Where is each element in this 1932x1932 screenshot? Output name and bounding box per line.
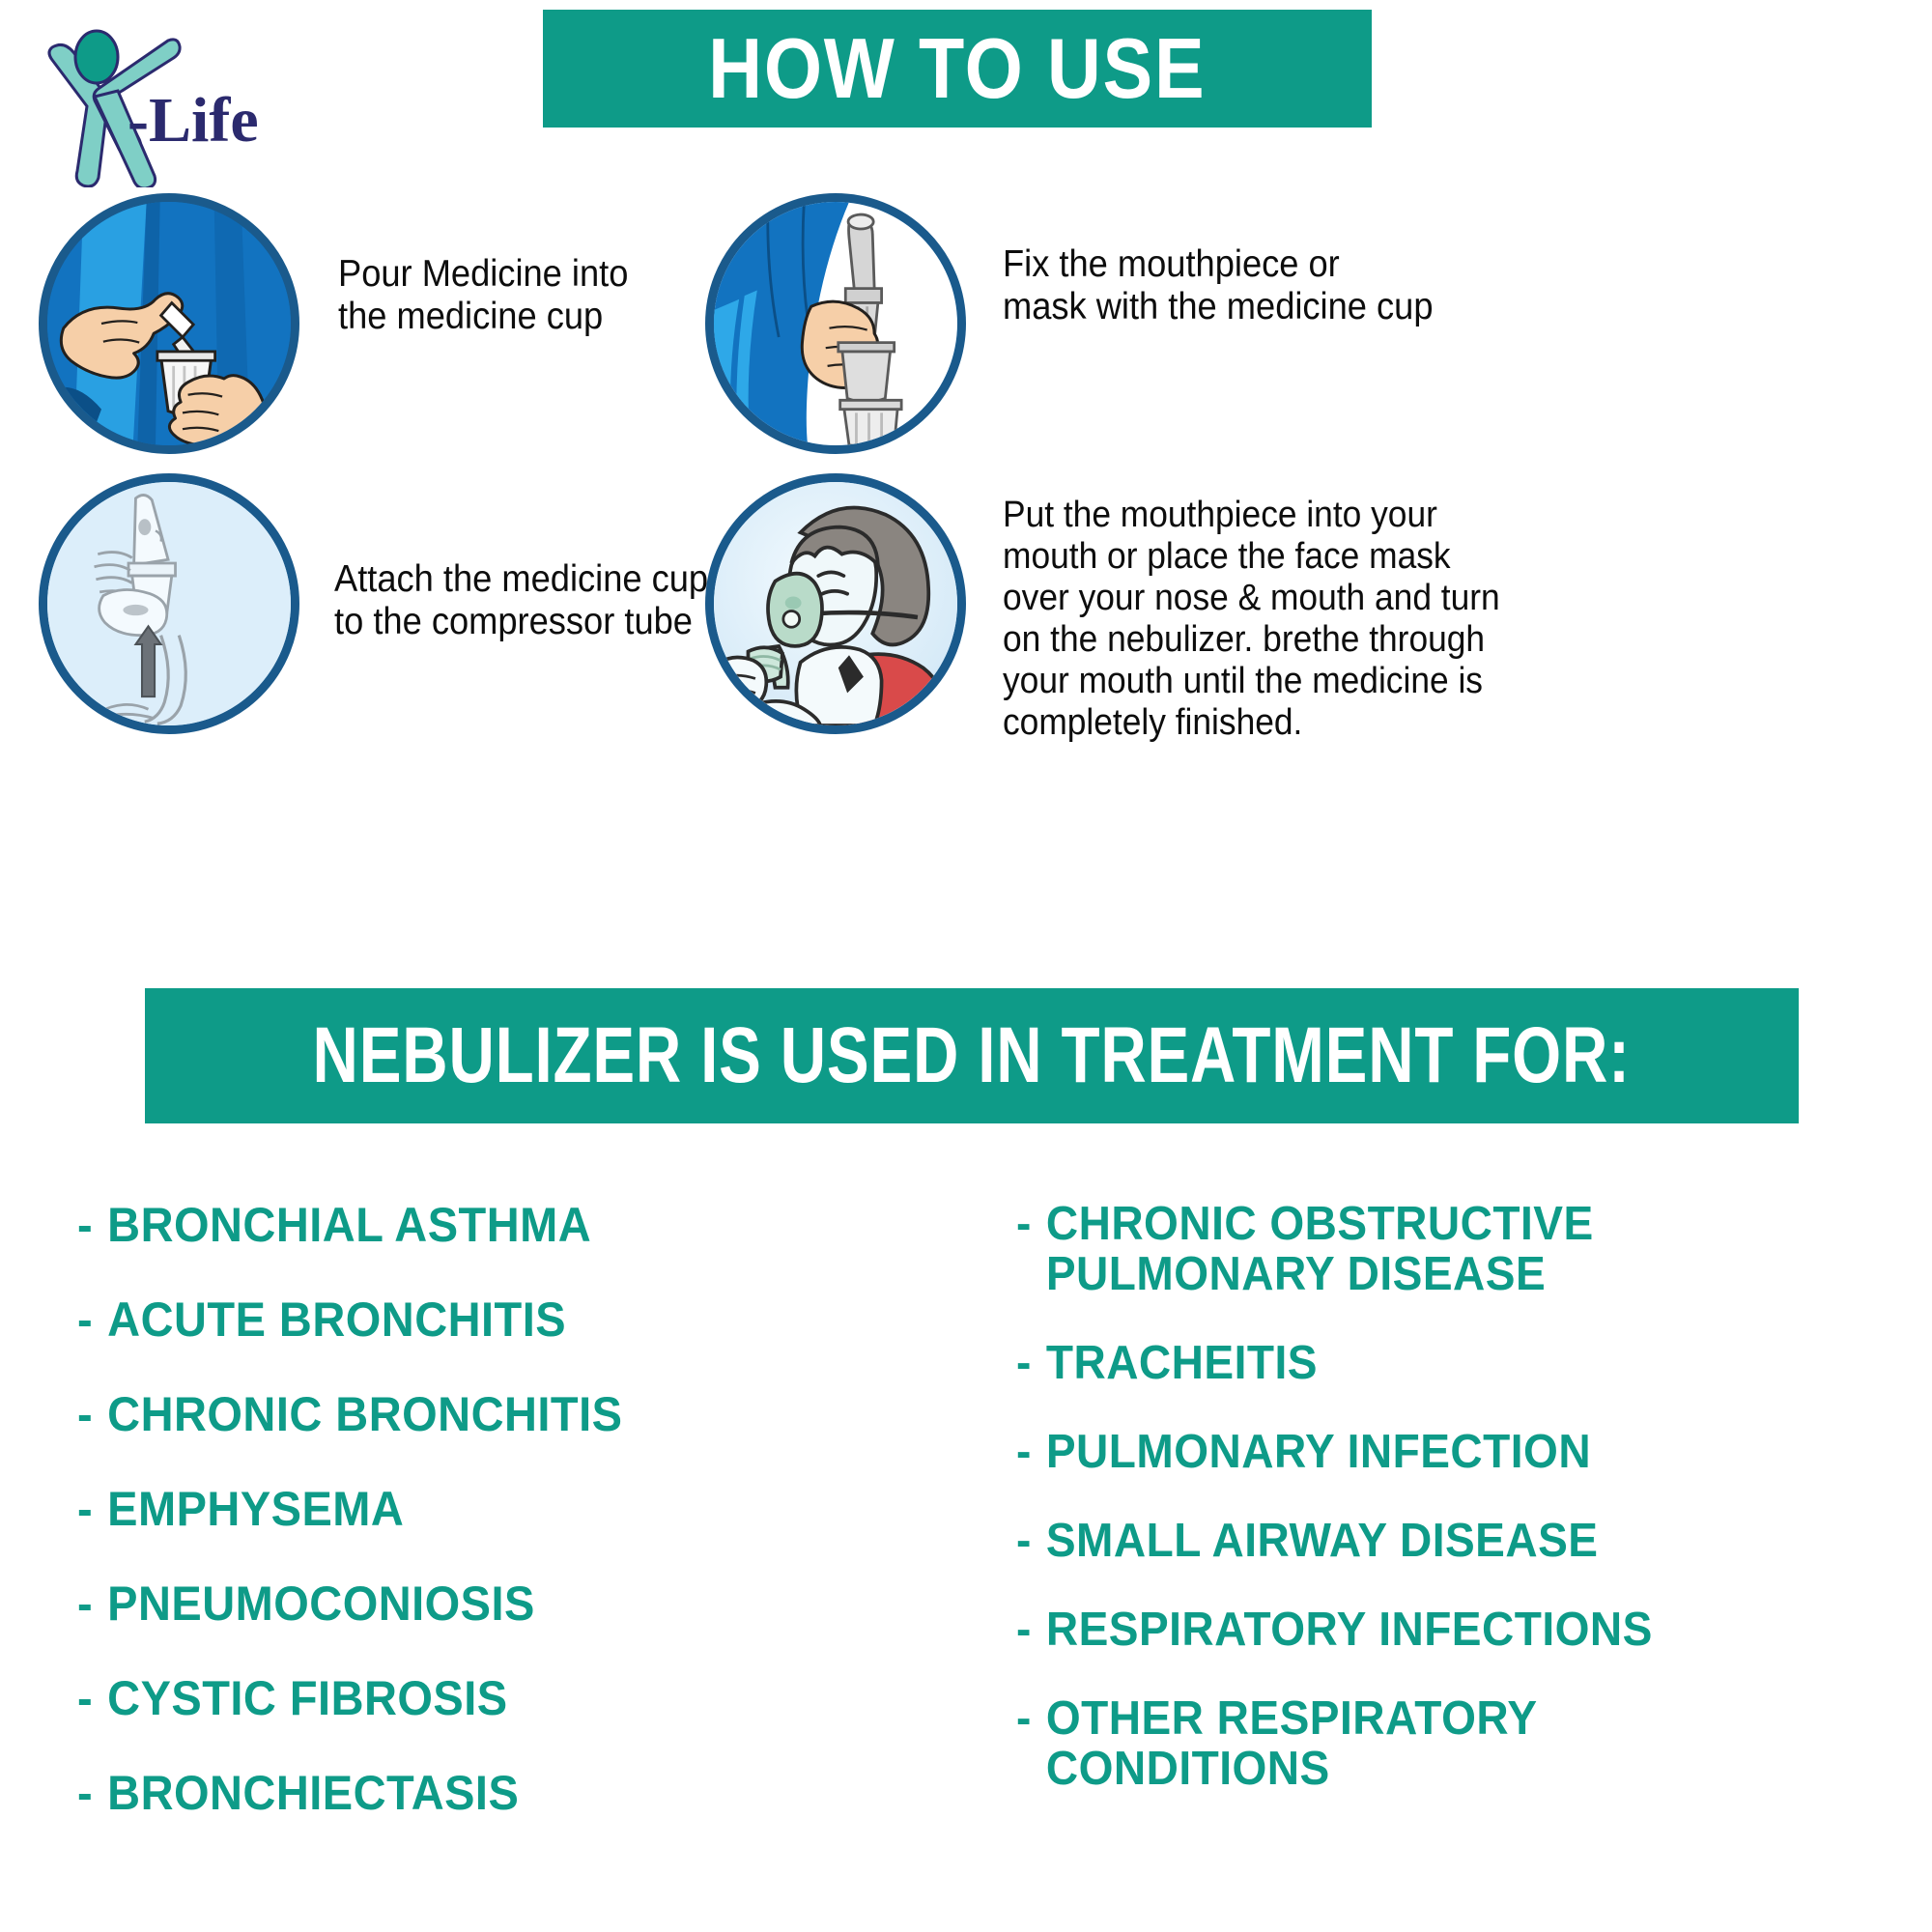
condition-label: TRACHEITIS [1046, 1339, 1318, 1389]
condition-label: BRONCHIAL ASTHMA [107, 1200, 591, 1251]
condition-item: - TRACHEITIS [1016, 1339, 1870, 1389]
condition-label: OTHER RESPIRATORY CONDITIONS [1046, 1694, 1538, 1795]
how-to-use-steps: Pour Medicine into the medicine cup [0, 184, 1932, 918]
bullet-dash-icon: - [1016, 1339, 1032, 1389]
conditions-right-column: - CHRONIC OBSTRUCTIVE PULMONARY DISEASE … [1016, 1200, 1924, 1833]
condition-label: PULMONARY INFECTION [1046, 1428, 1591, 1478]
condition-label: RESPIRATORY INFECTIONS [1046, 1605, 1653, 1656]
header-banner: HOW TO USE [543, 10, 1372, 128]
bullet-dash-icon: - [1016, 1605, 1032, 1656]
bullet-dash-icon: - [77, 1578, 93, 1630]
step-4: Put the mouthpiece into your mouth or pl… [705, 473, 1537, 744]
condition-label: SMALL AIRWAY DISEASE [1046, 1517, 1599, 1567]
logo-wordmark: -Life [128, 85, 259, 156]
step-3-caption: Attach the medicine cup to the compresso… [334, 558, 708, 642]
condition-label: CYSTIC FIBROSIS [107, 1673, 507, 1724]
step-1-caption: Pour Medicine into the medicine cup [338, 253, 628, 337]
step-2-caption: Fix the mouthpiece or mask with the medi… [1003, 243, 1434, 327]
condition-item: - CHRONIC BRONCHITIS [77, 1389, 767, 1440]
condition-item: - EMPHYSEMA [77, 1484, 767, 1535]
page-title: HOW TO USE [708, 26, 1206, 111]
treatment-banner-title: NEBULIZER IS USED IN TREATMENT FOR: [313, 1016, 1631, 1095]
condition-item: - SMALL AIRWAY DISEASE [1016, 1517, 1870, 1567]
k-life-logo: -Life ® [23, 14, 265, 187]
step-1-illustration [39, 193, 299, 454]
bullet-dash-icon: - [1016, 1200, 1032, 1300]
bullet-dash-icon: - [77, 1389, 93, 1440]
condition-label: CHRONIC BRONCHITIS [107, 1389, 622, 1440]
condition-item: - RESPIRATORY INFECTIONS [1016, 1605, 1870, 1656]
condition-item: - BRONCHIAL ASTHMA [77, 1200, 767, 1251]
treatment-banner: NEBULIZER IS USED IN TREATMENT FOR: [145, 988, 1799, 1123]
step-4-illustration [705, 473, 966, 734]
step-3-illustration [39, 473, 299, 734]
condition-item: - PNEUMOCONIOSIS [77, 1578, 767, 1630]
condition-label: CHRONIC OBSTRUCTIVE PULMONARY DISEASE [1046, 1200, 1594, 1300]
bullet-dash-icon: - [1016, 1428, 1032, 1478]
infographic-page: -Life ® -Life HOW TO USE [0, 0, 1932, 1932]
condition-item: - CHRONIC OBSTRUCTIVE PULMONARY DISEASE [1016, 1200, 1870, 1300]
bullet-dash-icon: - [1016, 1694, 1032, 1795]
condition-label: PNEUMOCONIOSIS [107, 1578, 535, 1630]
step-3: Attach the medicine cup to the compresso… [39, 473, 736, 734]
bullet-dash-icon: - [77, 1484, 93, 1535]
condition-label: BRONCHIECTASIS [107, 1768, 519, 1819]
bullet-dash-icon: - [77, 1673, 93, 1724]
bullet-dash-icon: - [77, 1768, 93, 1819]
step-1: Pour Medicine into the medicine cup [39, 193, 650, 454]
condition-label: EMPHYSEMA [107, 1484, 404, 1535]
condition-item: - PULMONARY INFECTION [1016, 1428, 1870, 1478]
step-4-caption: Put the mouthpiece into your mouth or pl… [1003, 495, 1500, 744]
condition-item: - BRONCHIECTASIS [77, 1768, 767, 1819]
step-2: Fix the mouthpiece or mask with the medi… [705, 193, 1465, 454]
bullet-dash-icon: - [77, 1294, 93, 1346]
conditions-left-column: - BRONCHIAL ASTHMA - ACUTE BRONCHITIS - … [77, 1200, 811, 1862]
condition-item: - ACUTE BRONCHITIS [77, 1294, 767, 1346]
condition-item: - OTHER RESPIRATORY CONDITIONS [1016, 1694, 1870, 1795]
bullet-dash-icon: - [1016, 1517, 1032, 1567]
condition-label: ACUTE BRONCHITIS [107, 1294, 566, 1346]
bullet-dash-icon: - [77, 1200, 93, 1251]
condition-item: - CYSTIC FIBROSIS [77, 1673, 767, 1724]
step-2-illustration [705, 193, 966, 454]
